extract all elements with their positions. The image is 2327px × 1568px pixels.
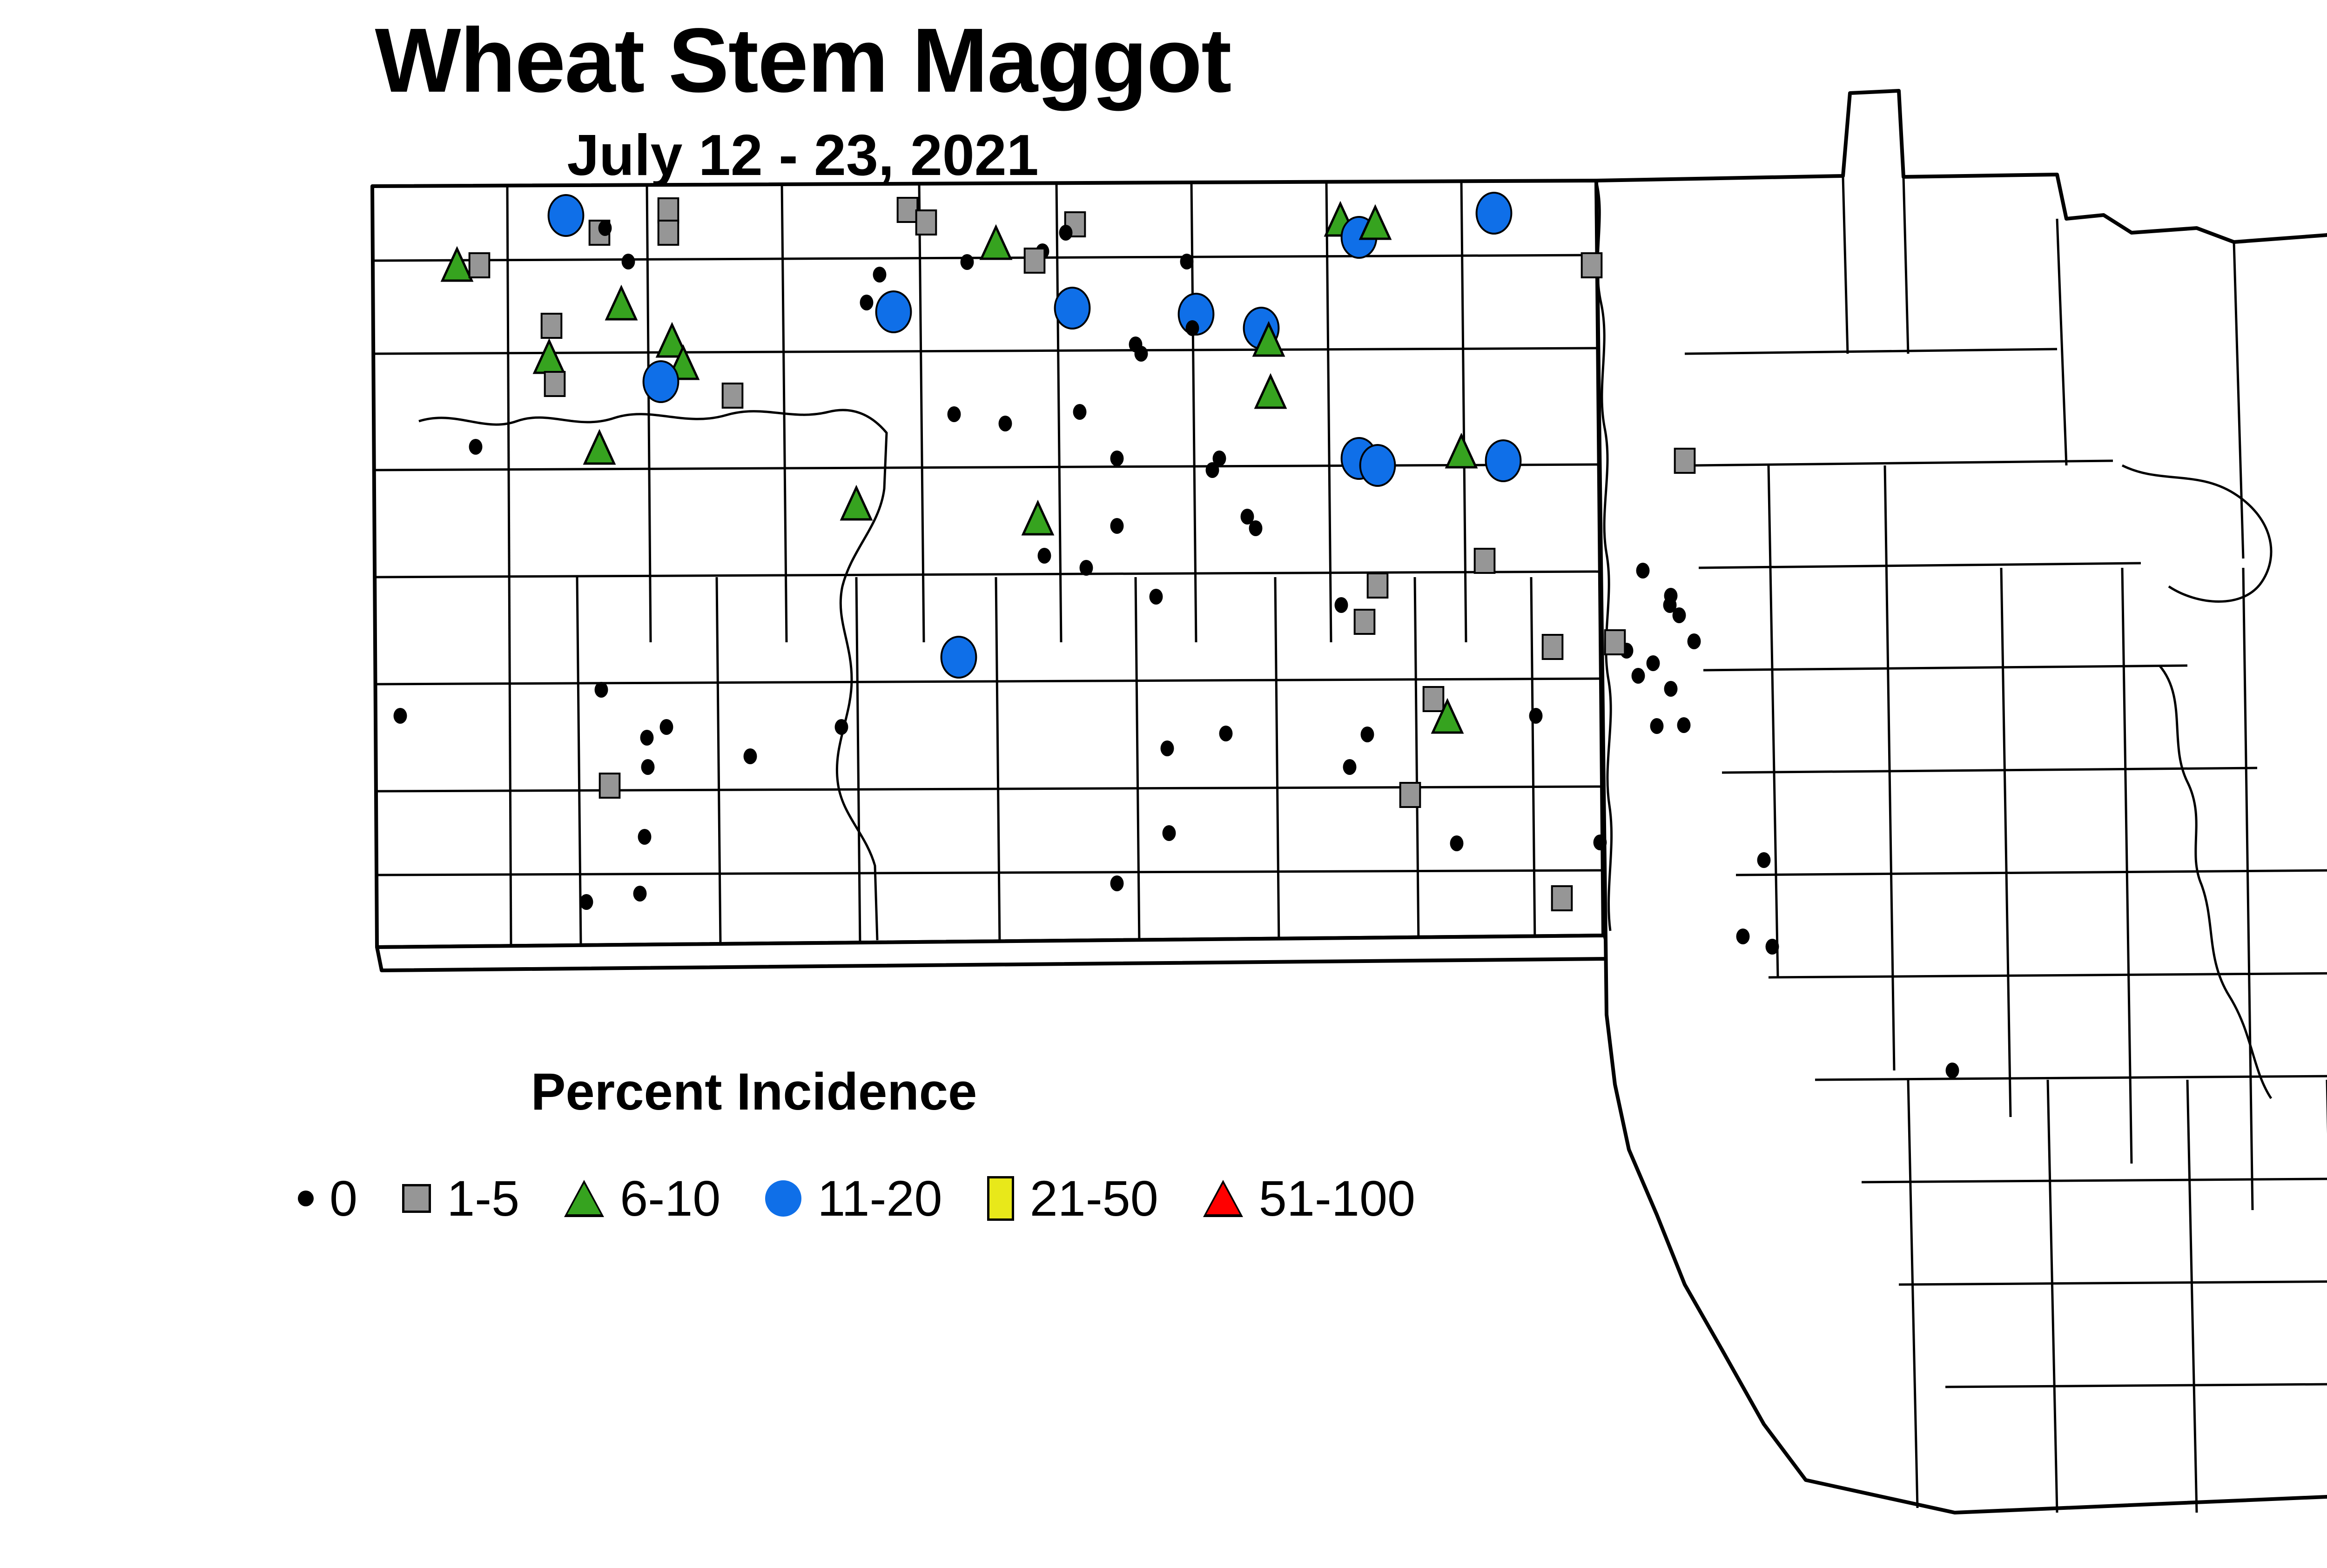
legend-item-11-20[interactable]: 11-20 [765,1164,987,1233]
data-point [600,774,620,798]
data-point [535,341,564,373]
data-point [470,253,490,277]
data-point [549,195,584,236]
data-point [1206,462,1219,478]
data-point [1486,440,1521,481]
data-point [860,295,874,310]
data-point [659,198,679,222]
data-point [1110,518,1124,534]
data-point [1180,254,1194,269]
data-point [1249,520,1263,536]
data-point [394,708,407,724]
data-point [873,267,887,283]
data-point [1110,451,1124,466]
data-point [638,829,652,845]
data-point [644,361,679,402]
data-point [1552,886,1572,910]
data-point [1477,193,1512,234]
data-point [1594,834,1607,850]
data-point [443,249,472,281]
data-point [1150,589,1163,605]
data-point [622,254,635,269]
map-canvas [0,0,2327,1568]
data-point [942,637,976,678]
data-point [1163,825,1176,841]
data-point [1757,852,1771,868]
data-point [595,682,608,698]
legend-title: Percent Incidence [298,1066,1210,1118]
data-point [1447,436,1476,467]
data-point [1161,740,1174,756]
data-point [916,210,936,235]
data-point [1946,1063,1959,1078]
data-point [660,719,673,735]
legend-item-1-5[interactable]: 1-5 [402,1164,564,1233]
legend-item-51-100[interactable]: 51-100 [1203,1164,1460,1233]
legend-items: 0 1-5 6-10 11-20 21-50 51-100 [298,1164,1460,1233]
data-point [1677,717,1691,733]
red-triangle-icon [1203,1180,1243,1217]
data-point [1360,445,1395,486]
data-point [1073,404,1087,420]
data-point [1186,320,1199,336]
data-point [1023,503,1053,534]
data-point [744,748,757,764]
data-point [469,439,483,455]
data-point [585,432,614,464]
data-point [659,221,679,245]
data-point [1673,607,1686,623]
legend: Percent Incidence 0 1-5 6-10 11-20 21-50 [298,1066,1717,1233]
data-point [633,886,647,902]
blue-circle-icon [765,1180,801,1217]
legend-label-1-5: 1-5 [447,1173,519,1224]
data-point [1355,610,1375,634]
data-point [898,198,918,222]
data-point [1636,563,1650,579]
data-point [1256,376,1285,408]
data-point [1675,449,1695,473]
data-point [1080,560,1093,576]
legend-label-11-20: 11-20 [817,1173,942,1224]
data-point [1582,253,1602,277]
data-point [1038,548,1051,564]
data-point [599,220,612,236]
data-point [1632,668,1645,684]
yellow-square-icon [987,1176,1014,1221]
gray-square-icon [402,1184,431,1213]
data-point [1055,288,1090,329]
data-point [1368,573,1388,598]
data-point [1343,759,1357,775]
data-point [982,227,1011,259]
dot-icon [298,1191,314,1206]
data-point [640,730,654,746]
data-point [835,719,848,735]
data-point [1736,929,1750,944]
green-triangle-icon [564,1180,604,1217]
data-point [1025,249,1045,273]
legend-label-21-50: 21-50 [1030,1173,1158,1224]
map-page: Wheat Stem Maggot July 12 - 23, 2021 [0,0,2327,1568]
data-point [1400,783,1420,807]
data-point [641,759,655,775]
data-point [1424,687,1444,711]
data-point [1766,939,1779,955]
data-point [961,254,974,270]
legend-label-0: 0 [330,1173,357,1224]
data-point [1135,346,1148,362]
data-point [607,288,636,319]
legend-label-6-10: 6-10 [620,1173,720,1224]
data-point [1475,549,1495,573]
data-point [876,291,911,332]
data-point [1361,727,1374,742]
data-point [1529,708,1543,724]
data-point [948,406,961,422]
data-point [545,372,565,396]
data-point [1664,681,1678,697]
legend-item-6-10[interactable]: 6-10 [564,1164,765,1233]
data-point [580,894,593,910]
data-point [542,314,562,338]
data-point [999,416,1012,431]
data-point [1647,655,1660,671]
data-point [1219,726,1233,741]
data-point [842,488,871,519]
legend-item-0[interactable]: 0 [298,1164,402,1233]
data-point [1605,630,1625,654]
data-point [1059,225,1073,241]
legend-item-21-50[interactable]: 21-50 [987,1164,1203,1233]
data-point [1650,718,1664,734]
data-point [1335,597,1348,613]
data-point [1450,835,1464,851]
data-point [1688,633,1701,649]
data-point-layer [0,0,2327,1568]
legend-label-51-100: 51-100 [1259,1173,1415,1224]
data-point [723,384,743,408]
data-point [1110,875,1124,891]
data-point [1543,635,1563,659]
